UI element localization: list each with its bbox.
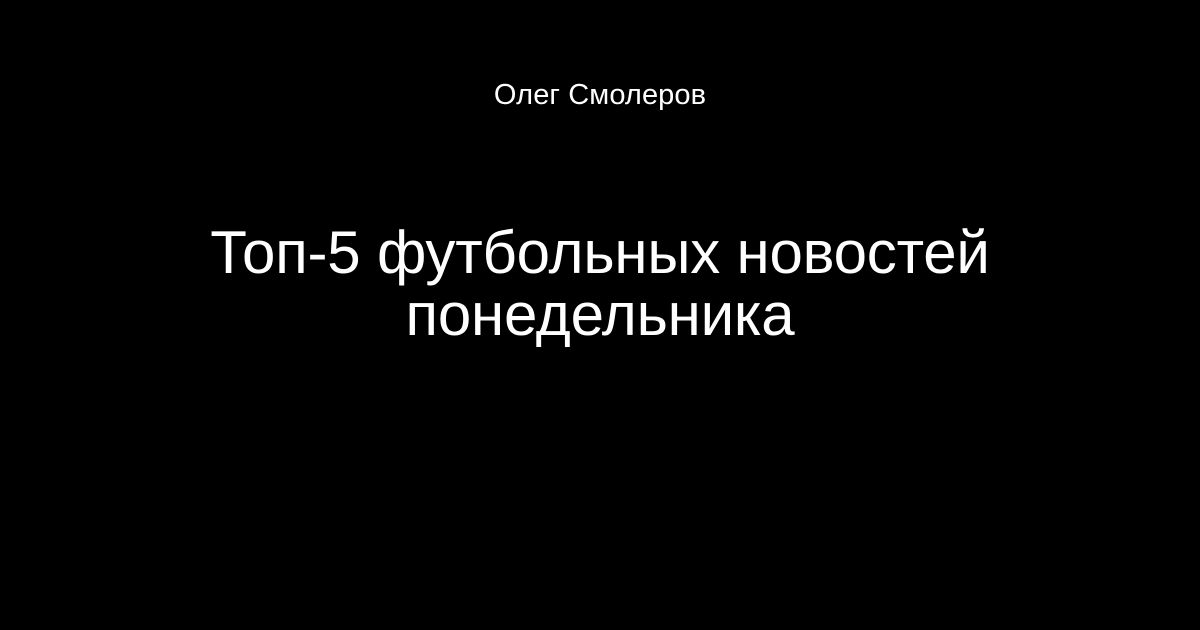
article-share-card: Олег Смолеров Топ-5 футбольных новостей … xyxy=(0,0,1200,630)
author-name[interactable]: Олег Смолеров xyxy=(494,78,706,112)
empty-lower-area xyxy=(0,346,1200,630)
page-title[interactable]: Топ-5 футбольных новостей понедельника xyxy=(170,222,1030,346)
headline-block: Топ-5 футбольных новостей понедельника xyxy=(170,222,1030,346)
byline: Олег Смолеров xyxy=(0,78,1200,112)
